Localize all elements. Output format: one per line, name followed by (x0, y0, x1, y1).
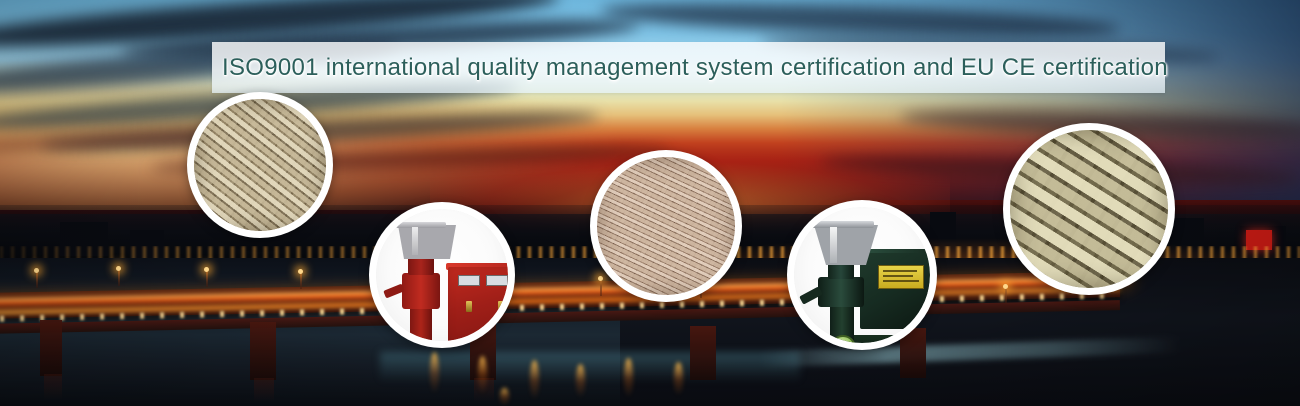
light-reflection (674, 362, 683, 396)
lamp-post (36, 272, 38, 288)
lamp-post (1005, 288, 1007, 304)
light-reflection (478, 356, 487, 394)
circle-image-clip (194, 99, 326, 231)
machine-neck (828, 263, 854, 279)
light-reflection (576, 364, 585, 398)
steel-hopper (398, 225, 456, 259)
bridge-lamp (298, 269, 303, 274)
control-knob (466, 301, 472, 312)
label-text-line (883, 270, 917, 272)
circle-image-clip (1010, 130, 1168, 288)
bridge-lamp (204, 267, 209, 272)
pelletizing-head (818, 277, 864, 307)
product-circle-wood-pellets-closeup[interactable] (187, 92, 333, 238)
wood-pellets-texture (194, 99, 326, 231)
lamp-post (600, 280, 602, 296)
circle-image-clip (376, 209, 508, 341)
light-reflection (500, 388, 509, 406)
product-circle-fine-wood-pellets[interactable] (590, 150, 742, 302)
page-title: ISO9001 international quality management… (222, 54, 1168, 82)
product-circle-large-wood-pellets[interactable] (1003, 123, 1175, 295)
bridge-pier (40, 320, 62, 376)
headline-strip: ISO9001 international quality management… (212, 42, 1165, 93)
product-circle-red-pellet-mill[interactable] (369, 202, 515, 348)
pier-reflection (254, 378, 274, 402)
steel-hopper (814, 225, 878, 265)
lamp-post (206, 271, 208, 287)
hopper-rim (396, 222, 446, 228)
bridge-lamp (116, 266, 121, 271)
green-pellet-mill-illustration (794, 207, 930, 343)
hopper-rim (808, 221, 874, 228)
bridge-pier (250, 322, 276, 380)
control-display-panel (486, 275, 508, 286)
light-reflection (530, 360, 539, 400)
label-text-line (883, 275, 913, 277)
machine-body (402, 273, 440, 309)
bridge-lamp (598, 276, 603, 281)
red-pellet-mill-illustration (376, 209, 508, 341)
bridge-pier (690, 326, 716, 380)
yellow-spec-label (878, 265, 924, 289)
hopper-sheen (412, 227, 418, 255)
wood-pellets-texture (597, 157, 735, 295)
bridge-lamp (34, 268, 39, 273)
circle-image-clip (597, 157, 735, 295)
light-reflection (430, 352, 439, 394)
lamp-post (118, 270, 120, 286)
control-display-panel (458, 275, 480, 286)
bridge-lamp (1003, 284, 1008, 289)
pier-reflection (44, 374, 62, 400)
light-reflection (624, 358, 633, 398)
machine-column (410, 307, 432, 341)
water-teal-streak (380, 352, 800, 382)
lamp-post (300, 273, 302, 289)
product-circle-green-pellet-mill[interactable] (787, 200, 937, 350)
promotional-banner: ISO9001 international quality management… (0, 0, 1300, 406)
hopper-sheen (830, 227, 837, 263)
wood-pellets-texture (1010, 130, 1168, 288)
circle-image-clip (794, 207, 930, 343)
label-text-line (883, 280, 919, 282)
machine-neck (408, 257, 434, 275)
control-knob (498, 301, 504, 312)
